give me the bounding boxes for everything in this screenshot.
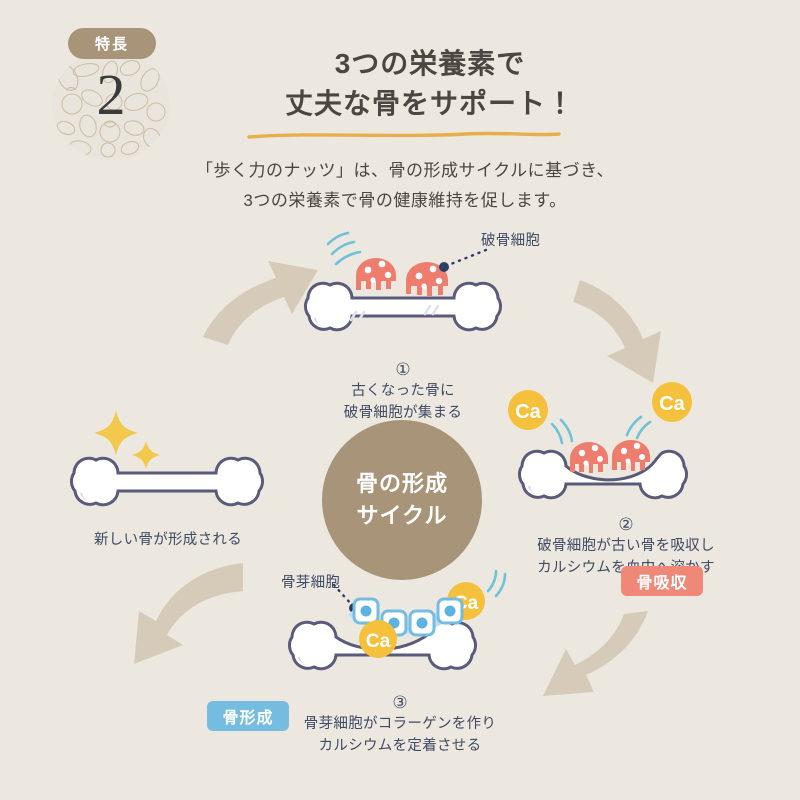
- step4-illustration: [52, 405, 284, 525]
- svg-text:Ca: Ca: [366, 631, 391, 652]
- osteoblast-cell: [410, 611, 434, 635]
- feature-label-text: 特長: [95, 33, 129, 54]
- step2-number: ②: [500, 515, 752, 535]
- step1-caption: 古くなった骨に 破骨細胞が集まる: [278, 381, 528, 425]
- page-title: 3つの栄養素で 丈夫な骨をサポート！: [210, 44, 650, 124]
- lead-paragraph: 「歩く力のナッツ」は、骨の形成サイクルに基づき、 3つの栄養素で骨の健康維持を促…: [120, 156, 690, 216]
- osteoblast-cell: [354, 599, 378, 623]
- svg-text:Ca: Ca: [515, 401, 541, 423]
- feature-badge: 特長 2: [44, 28, 180, 160]
- feature-number: 2: [44, 66, 178, 124]
- step1-caption-line2: 破骨細胞が集まる: [278, 403, 528, 425]
- status-badge-bone-resorption: 骨吸収: [621, 566, 703, 596]
- lead-line2: 3つの栄養素で骨の健康維持を促します。: [120, 186, 690, 216]
- calcium-icon: Ca: [359, 620, 397, 658]
- step3-number: ③: [272, 693, 528, 713]
- osteoclast-cell: [612, 440, 650, 471]
- osteoblast-annotation-label: 骨芽細胞: [281, 571, 340, 592]
- cycle-step-4: 新しい骨が形成される: [52, 405, 284, 552]
- cycle-center-line2: サイクル: [357, 500, 448, 532]
- page-title-line2: 丈夫な骨をサポート！: [210, 84, 650, 124]
- cycle-center-label: 骨の形成 サイクル: [322, 420, 482, 580]
- status-badge-bone-formation: 骨形成: [207, 701, 289, 731]
- cycle-step-3: Ca: [272, 563, 528, 758]
- cycle-center-line1: 骨の形成: [356, 468, 448, 500]
- title-underline: [245, 128, 565, 142]
- bone-formation-cycle-diagram: 骨の形成 サイクル: [0, 215, 800, 800]
- cycle-step-1: ① 古くなった骨に 破骨細胞が集まる: [278, 220, 528, 425]
- step4-caption-line1: 新しい骨が形成される: [52, 530, 284, 552]
- step3-caption-line1: 骨芽細胞がコラーゲンを作り: [272, 714, 528, 736]
- osteoclast-leader-line: [439, 250, 486, 272]
- osteoclast-annotation-label: 破骨細胞: [481, 229, 540, 250]
- lead-line1: 「歩く力のナッツ」は、骨の形成サイクルに基づき、: [120, 156, 690, 186]
- osteoclast-cell: [570, 442, 608, 473]
- step3-caption-line2: カルシウムを定着させる: [272, 736, 528, 758]
- page-title-line1: 3つの栄養素で: [210, 44, 650, 84]
- osteoclast-cell: [356, 258, 396, 290]
- bone-shape: [305, 283, 500, 329]
- step4-caption: 新しい骨が形成される: [52, 530, 284, 552]
- step1-number: ①: [278, 360, 528, 380]
- feature-label-pill: 特長: [68, 28, 156, 59]
- step2-caption-line1: 破骨細胞が古い骨を吸収し: [500, 536, 752, 558]
- calcium-icon: Ca: [508, 390, 548, 430]
- osteoblast-cell: [438, 599, 462, 623]
- bone-shape: [71, 458, 262, 504]
- step1-caption-line1: 古くなった骨に: [278, 381, 528, 403]
- infographic-root: 特長 2 3つの栄養素で 丈夫な骨をサポート！ 「歩く力のナッツ」は、骨の形成サ…: [0, 0, 800, 800]
- step2-illustration: Ca Ca: [500, 380, 752, 510]
- step3-caption: 骨芽細胞がコラーゲンを作り カルシウムを定着させる: [272, 714, 528, 758]
- calcium-icon: Ca: [652, 382, 692, 422]
- svg-text:Ca: Ca: [659, 393, 685, 415]
- cycle-step-2: Ca Ca: [500, 380, 752, 580]
